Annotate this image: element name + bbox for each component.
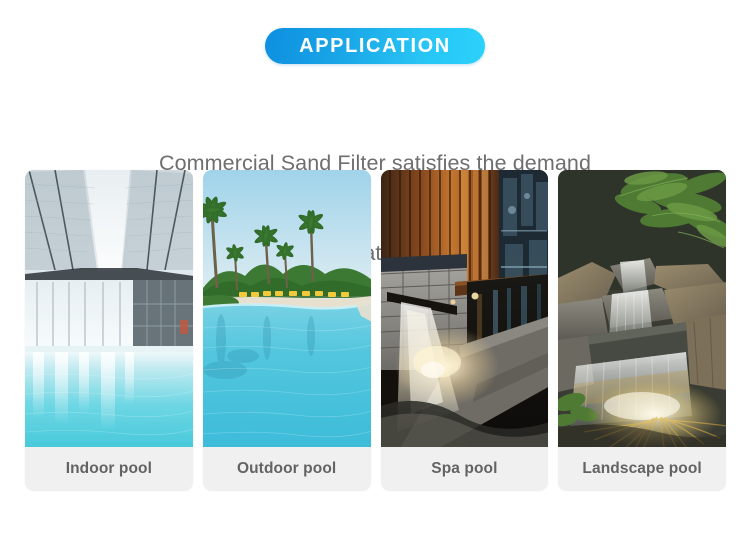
application-badge: APPLICATION bbox=[265, 28, 485, 64]
badge-row: APPLICATION bbox=[0, 28, 750, 64]
application-card-grid: Indoor pool bbox=[25, 170, 726, 491]
landscape-pool-photo bbox=[558, 170, 726, 447]
application-card-indoor-pool[interactable]: Indoor pool bbox=[25, 170, 193, 491]
application-card-landscape-pool[interactable]: Landscape pool bbox=[558, 170, 726, 491]
indoor-pool-photo bbox=[25, 170, 193, 447]
card-label-spa-pool: Spa pool bbox=[381, 447, 549, 491]
spa-pool-photo bbox=[381, 170, 549, 447]
outdoor-pool-photo bbox=[203, 170, 371, 447]
application-card-spa-pool[interactable]: Spa pool bbox=[381, 170, 549, 491]
application-card-outdoor-pool[interactable]: Outdoor pool bbox=[203, 170, 371, 491]
card-label-indoor-pool: Indoor pool bbox=[25, 447, 193, 491]
card-label-landscape-pool: Landscape pool bbox=[558, 447, 726, 491]
application-section: APPLICATION Commercial Sand Filter satis… bbox=[0, 0, 750, 538]
card-label-outdoor-pool: Outdoor pool bbox=[203, 447, 371, 491]
